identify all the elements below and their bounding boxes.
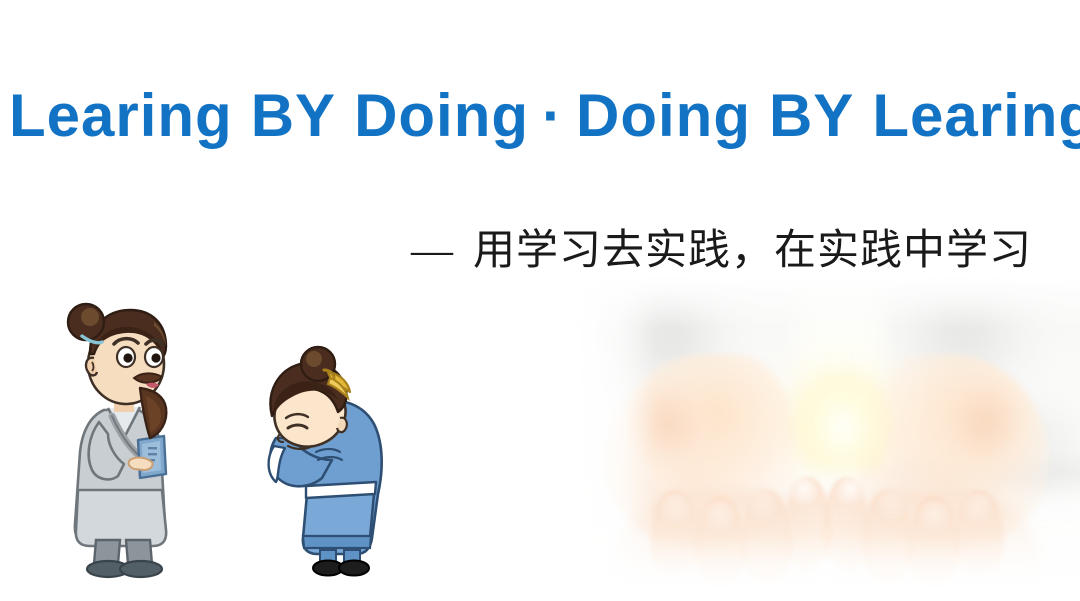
title-word-1: Learing	[9, 82, 233, 149]
title-word-5: BY	[769, 82, 854, 149]
ancient-chinese-scholar-teacher	[42, 292, 202, 580]
page-title: LearingBYDoing·DoingBYLearing	[0, 84, 1080, 147]
title-word-3: Doing	[354, 82, 529, 149]
student-illustration-icon	[252, 342, 392, 580]
right-nail-4	[835, 478, 865, 506]
title-word-2: BY	[251, 82, 336, 149]
cupped-hands-with-light	[574, 276, 1080, 601]
page-subtitle: —用学习去实践，在实践中学习	[411, 216, 1032, 277]
photo-fade-bottom	[574, 536, 1080, 601]
slide-canvas: LearingBYDoing·DoingBYLearing —用学习去实践，在实…	[0, 0, 1080, 601]
subtitle-text: 用学习去实践，在实践中学习	[473, 228, 1032, 274]
light-glow-icon	[792, 367, 893, 471]
subtitle-dash: —	[411, 228, 453, 274]
title-word-6: Learing	[872, 82, 1080, 149]
title-separator-dot: ·	[542, 82, 563, 149]
teacher-illustration-icon	[42, 292, 202, 580]
bowing-student	[252, 342, 392, 580]
title-word-4: Doing	[576, 82, 751, 149]
